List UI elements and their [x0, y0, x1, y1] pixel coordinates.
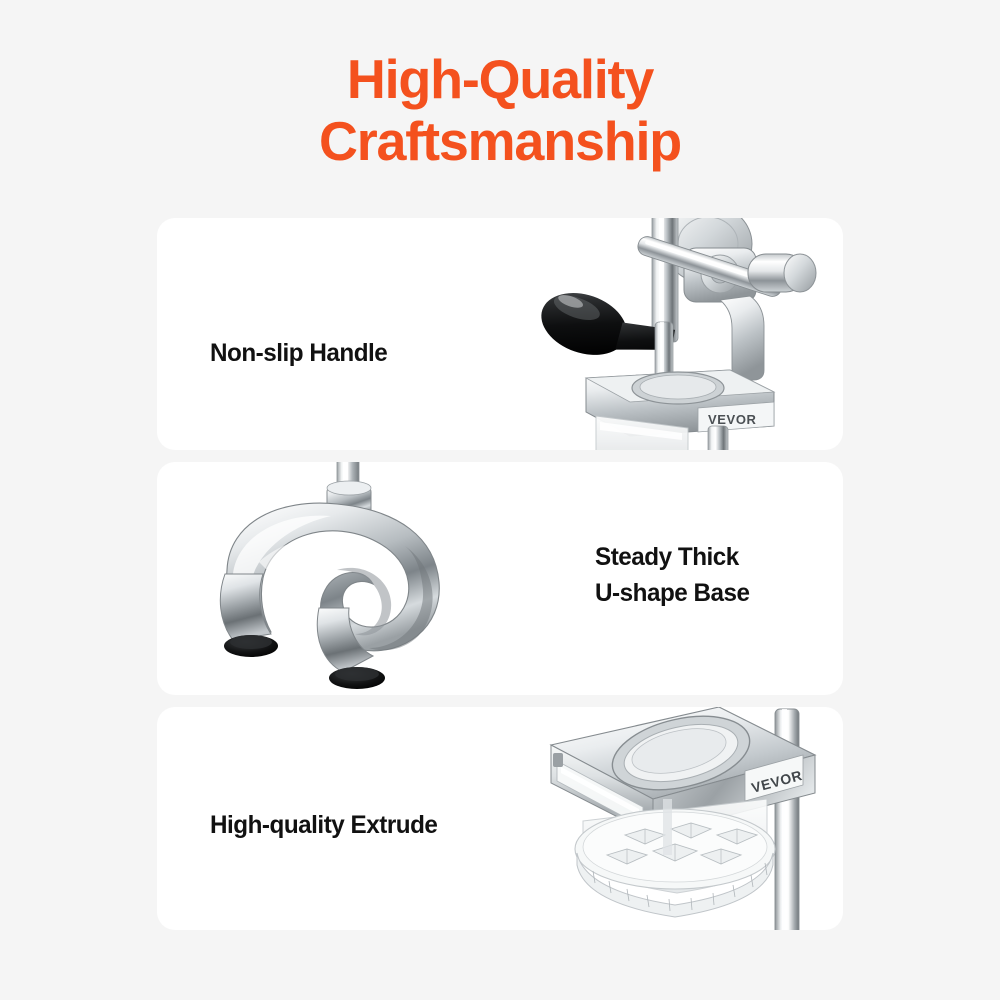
- page-title-line-2: Craftsmanship: [10, 110, 990, 172]
- page-title-line-1: High-Quality: [10, 48, 990, 110]
- product-image-non-slip-handle: VEVOR: [512, 218, 842, 450]
- feature-card-u-shape-base: Steady Thick U-shape Base: [157, 462, 843, 695]
- feature-label-non-slip-handle: Non-slip Handle: [210, 335, 387, 371]
- feature-label-high-quality-extrude: High-quality Extrude: [210, 807, 437, 843]
- feature-card-non-slip-handle: Non-slip Handle: [157, 218, 843, 450]
- feature-label-u-shape-base: Steady Thick U-shape Base: [595, 539, 750, 611]
- brand-plate-label-card1: VEVOR: [708, 412, 757, 427]
- product-image-u-shape-base: [167, 462, 567, 695]
- product-image-high-quality-extrude: VEVOR: [457, 707, 843, 930]
- page-title: High-Quality Craftsmanship: [0, 48, 1000, 172]
- feature-card-high-quality-extrude: High-quality Extrude: [157, 707, 843, 930]
